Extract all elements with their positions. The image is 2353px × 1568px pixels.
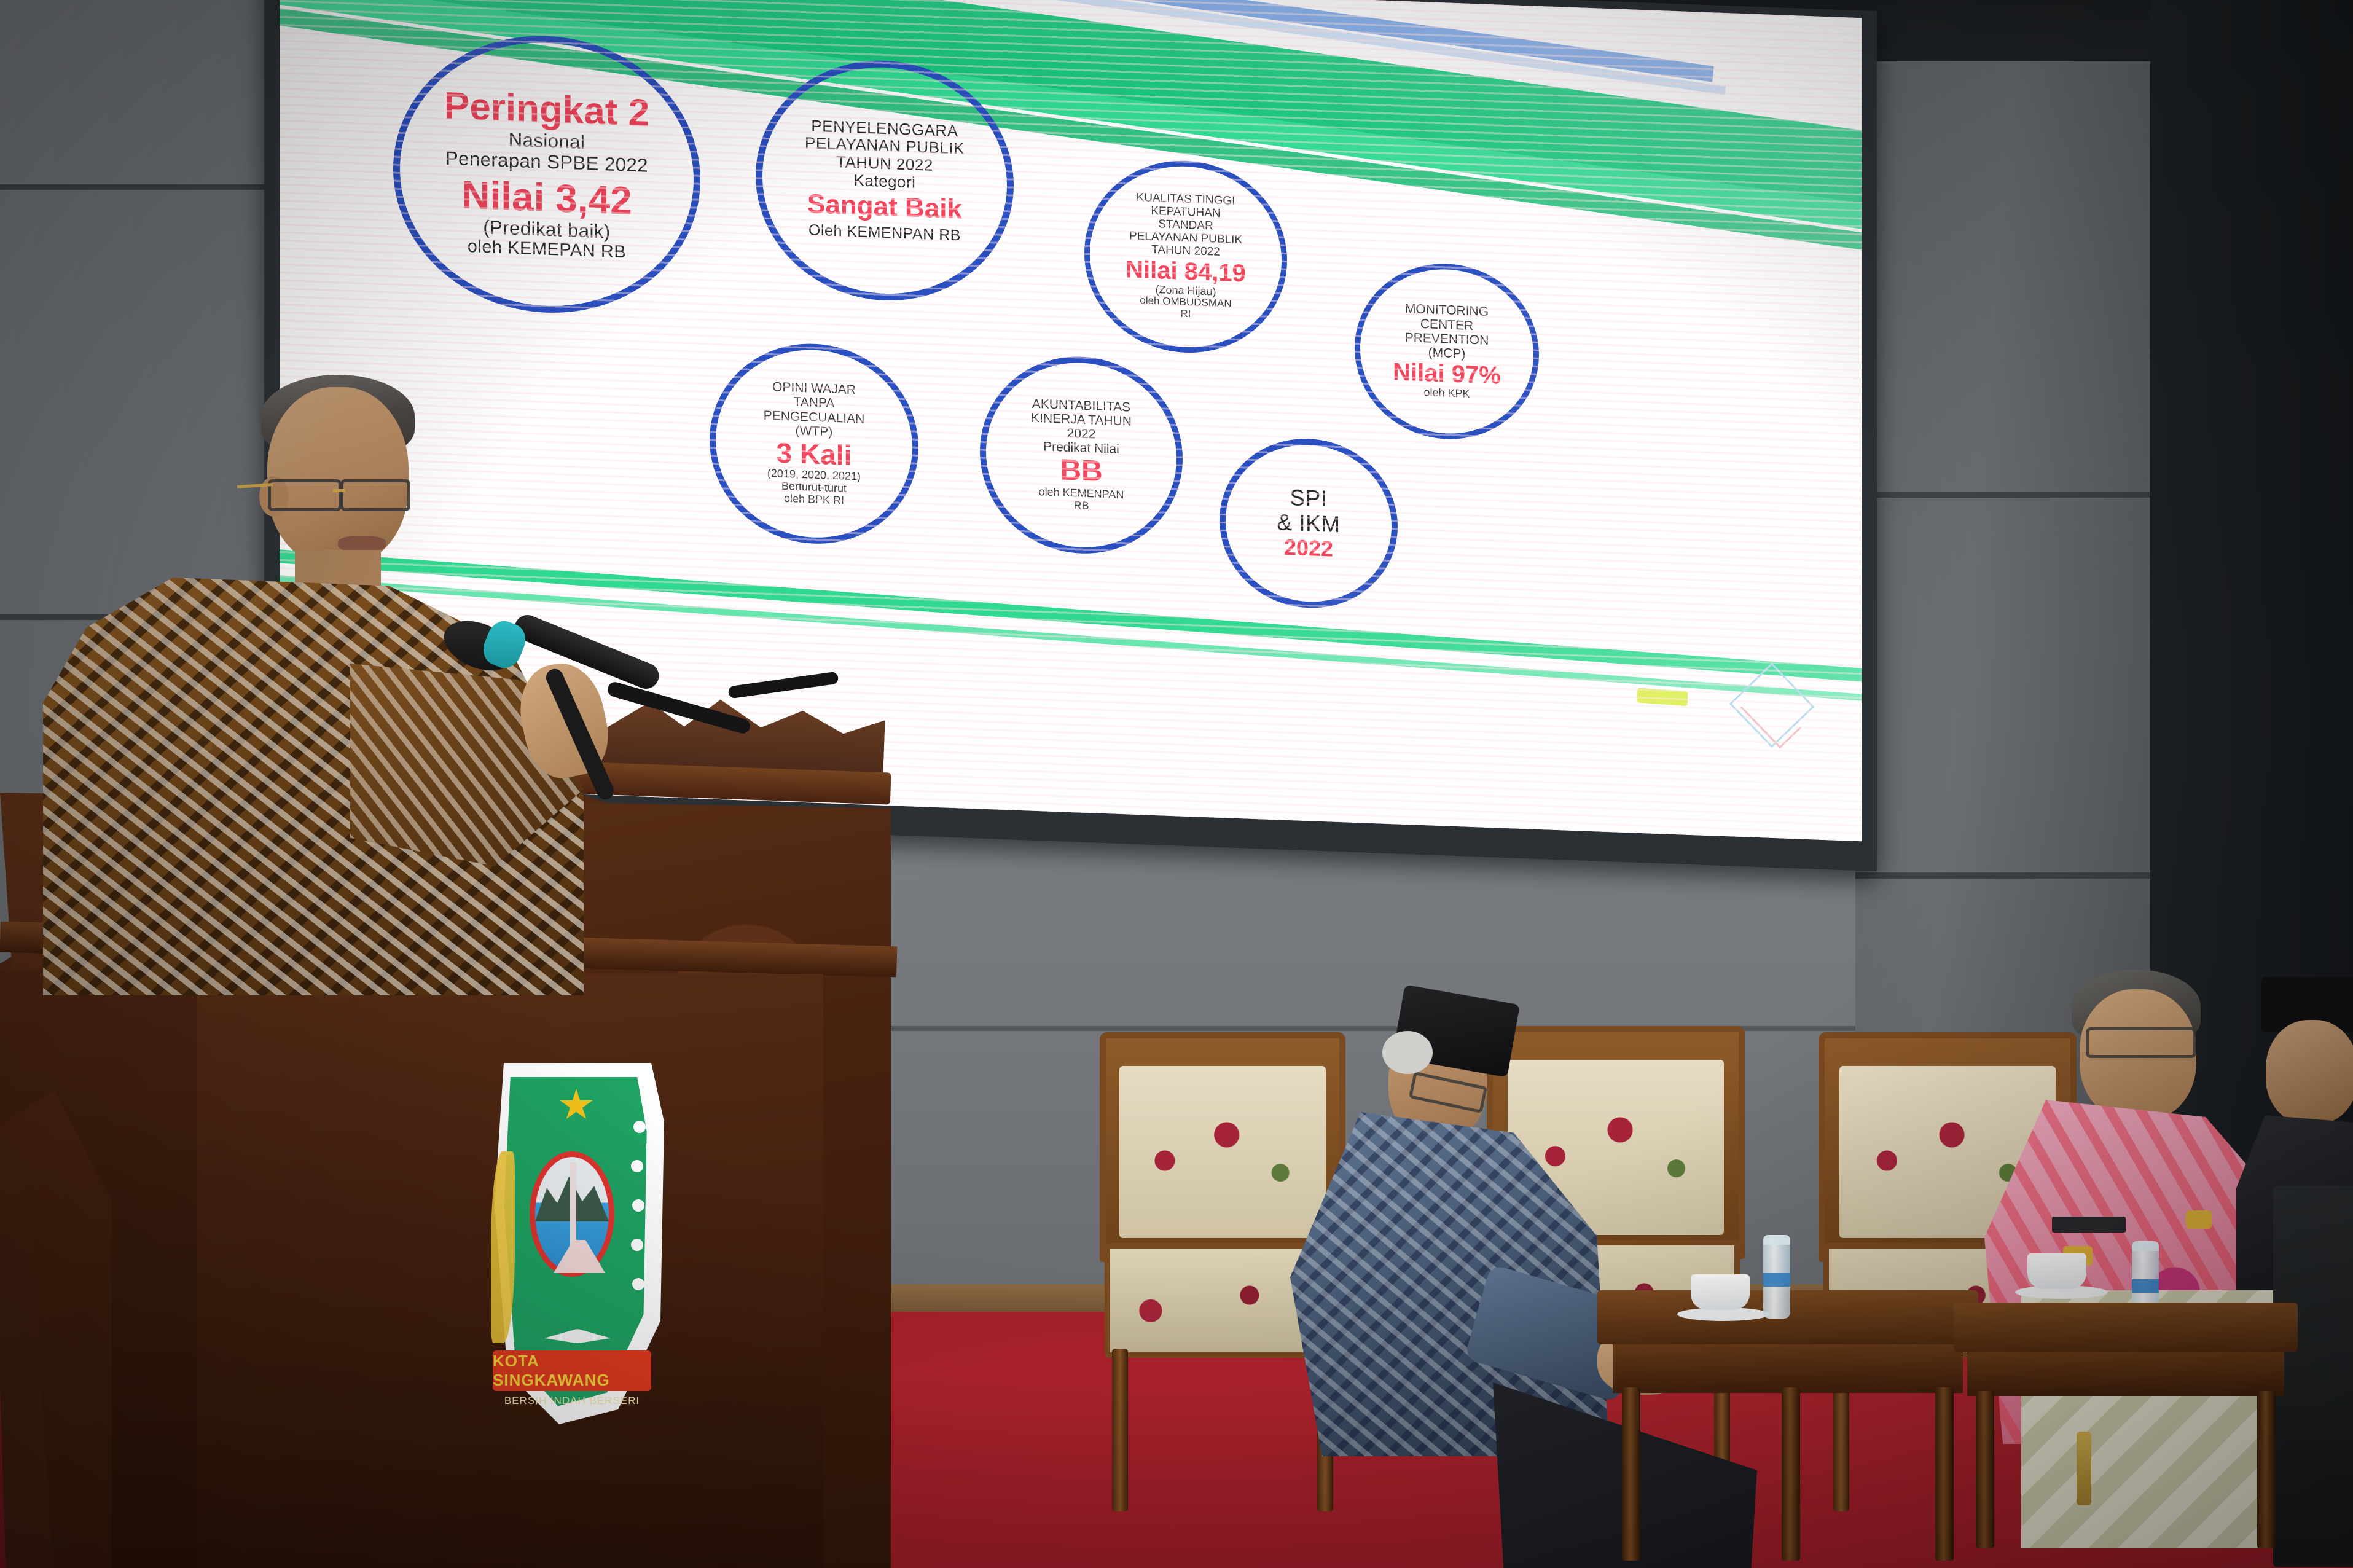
side-table [1954,1303,2298,1548]
crest-cotton-branch [627,1115,659,1343]
slide-bubble-kepatuhan-standar: KUALITAS TINGGI KEPATUHAN STANDAR PELAYA… [1084,157,1287,356]
slide-accent-dash [1637,688,1688,706]
glasses-bridge [333,489,345,492]
slide-bubble-akuntabilitas: AKUNTABILITAS KINERJA TAHUN 2022 Predika… [980,353,1183,557]
person-speaker [92,375,559,989]
slide-bubble-spi-ikm: SPI & IKM 2022 [1220,436,1398,611]
bubble-line: Nilai 3,42 [444,173,649,224]
city-crest: KOTA SINGKAWANG BERSIH INDAH BERSERI [485,1056,670,1424]
bubble-line: Oleh KEMENPAN RB [805,222,965,245]
bubble-line: 3 Kali [764,436,865,471]
bubble-line: Nilai 84,19 [1126,256,1246,287]
glasses-icon [2086,1027,2196,1058]
slide-bubble-mcp: MONITORING CENTER PREVENTION (MCP) Nilai… [1355,261,1539,442]
side-table [1597,1290,1978,1561]
water-bottle [1763,1235,1790,1319]
crest-motto-text: BERSIH INDAH BERSERI [504,1395,640,1407]
hair [1382,1031,1433,1074]
bubble-line: Peringkat 2 [444,85,649,134]
name-badge [2052,1217,2126,1233]
bubble-line: 2022 [1277,535,1340,562]
head [2266,1020,2353,1124]
coffee-cup [1691,1274,1750,1310]
auditorium-scene: atan Peringkat 2 Nasional Penerapan SPBE… [0,0,2353,1568]
crest-name-ribbon: KOTA SINGKAWANG [493,1350,651,1391]
glasses-icon [268,479,342,511]
bubble-line: Sangat Baik [805,189,965,225]
bubble-line: BB [1031,453,1132,490]
slide-bubble-wtp: OPINI WAJAR TANPA PENGECUALIAN (WTP) 3 K… [710,340,918,547]
crest-name-text: KOTA SINGKAWANG [493,1352,651,1390]
glasses-icon [340,479,410,511]
bubble-line: Nilai 97% [1393,358,1501,389]
coffee-cup [2027,1253,2086,1289]
bubble-line: & IKM [1277,510,1340,537]
bubble-line: SPI [1277,485,1340,512]
shoulder-insignia [2186,1210,2212,1229]
crest-paddy-stalk [491,1151,515,1343]
head [267,387,409,565]
